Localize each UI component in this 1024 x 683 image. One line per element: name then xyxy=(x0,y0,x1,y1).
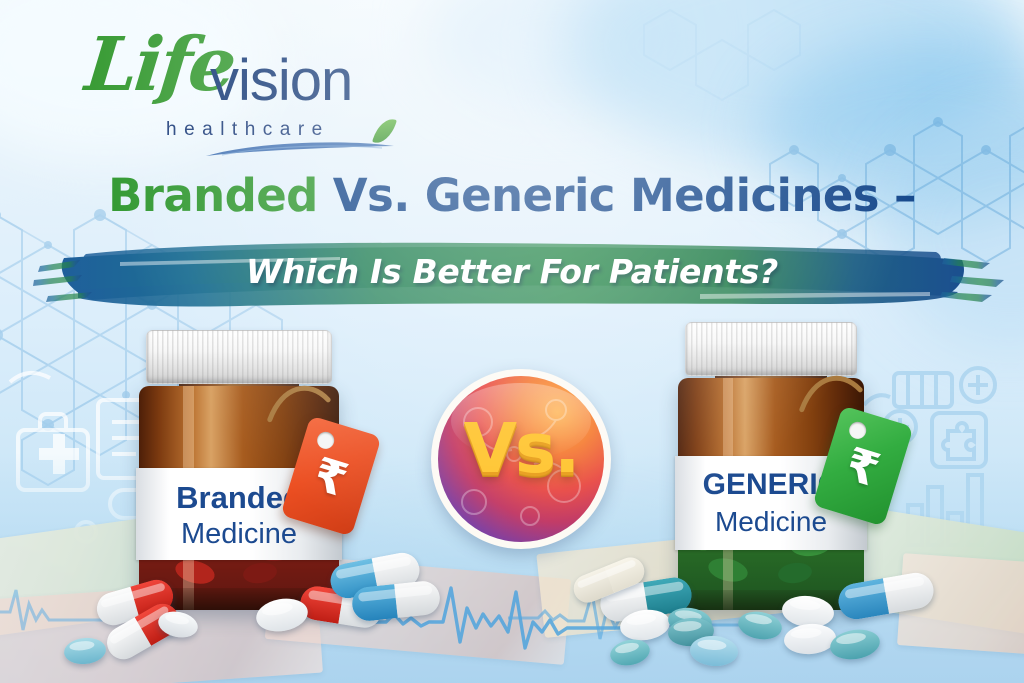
tablet-teal xyxy=(608,636,652,669)
cloud-wash xyxy=(430,0,690,110)
logo-vision-text: vision xyxy=(210,52,352,110)
branded-bottle: Branded Medicine ₹ xyxy=(139,330,339,610)
vs-badge-label: Vs. xyxy=(431,415,611,484)
tablet-blue xyxy=(689,634,739,667)
vs-badge: Vs. xyxy=(431,369,611,549)
cloud-wash xyxy=(560,0,1024,160)
hexagon-molecule-pattern xyxy=(640,0,900,180)
title-rest: Vs. Generic Medicines – xyxy=(318,169,916,222)
tablet-teal xyxy=(63,636,107,666)
tablet-white xyxy=(783,622,837,656)
poster-canvas: Life vision healthcare Branded Vs. Gener… xyxy=(0,0,1024,683)
title-branded-word: Branded xyxy=(108,169,318,222)
title-brush-banner: Which Is Better For Patients? xyxy=(0,236,1024,316)
tablet-teal xyxy=(828,626,882,662)
page-title: Branded Vs. Generic Medicines – xyxy=(0,172,1024,220)
swoosh-icon xyxy=(204,140,396,158)
generic-bottle: GENERIC Medicine ₹ xyxy=(678,322,864,610)
brand-logo: Life vision healthcare xyxy=(84,22,414,152)
tablet-teal xyxy=(736,608,784,642)
title-subtitle: Which Is Better For Patients? xyxy=(0,252,1024,291)
logo-tagline: healthcare xyxy=(166,119,330,141)
